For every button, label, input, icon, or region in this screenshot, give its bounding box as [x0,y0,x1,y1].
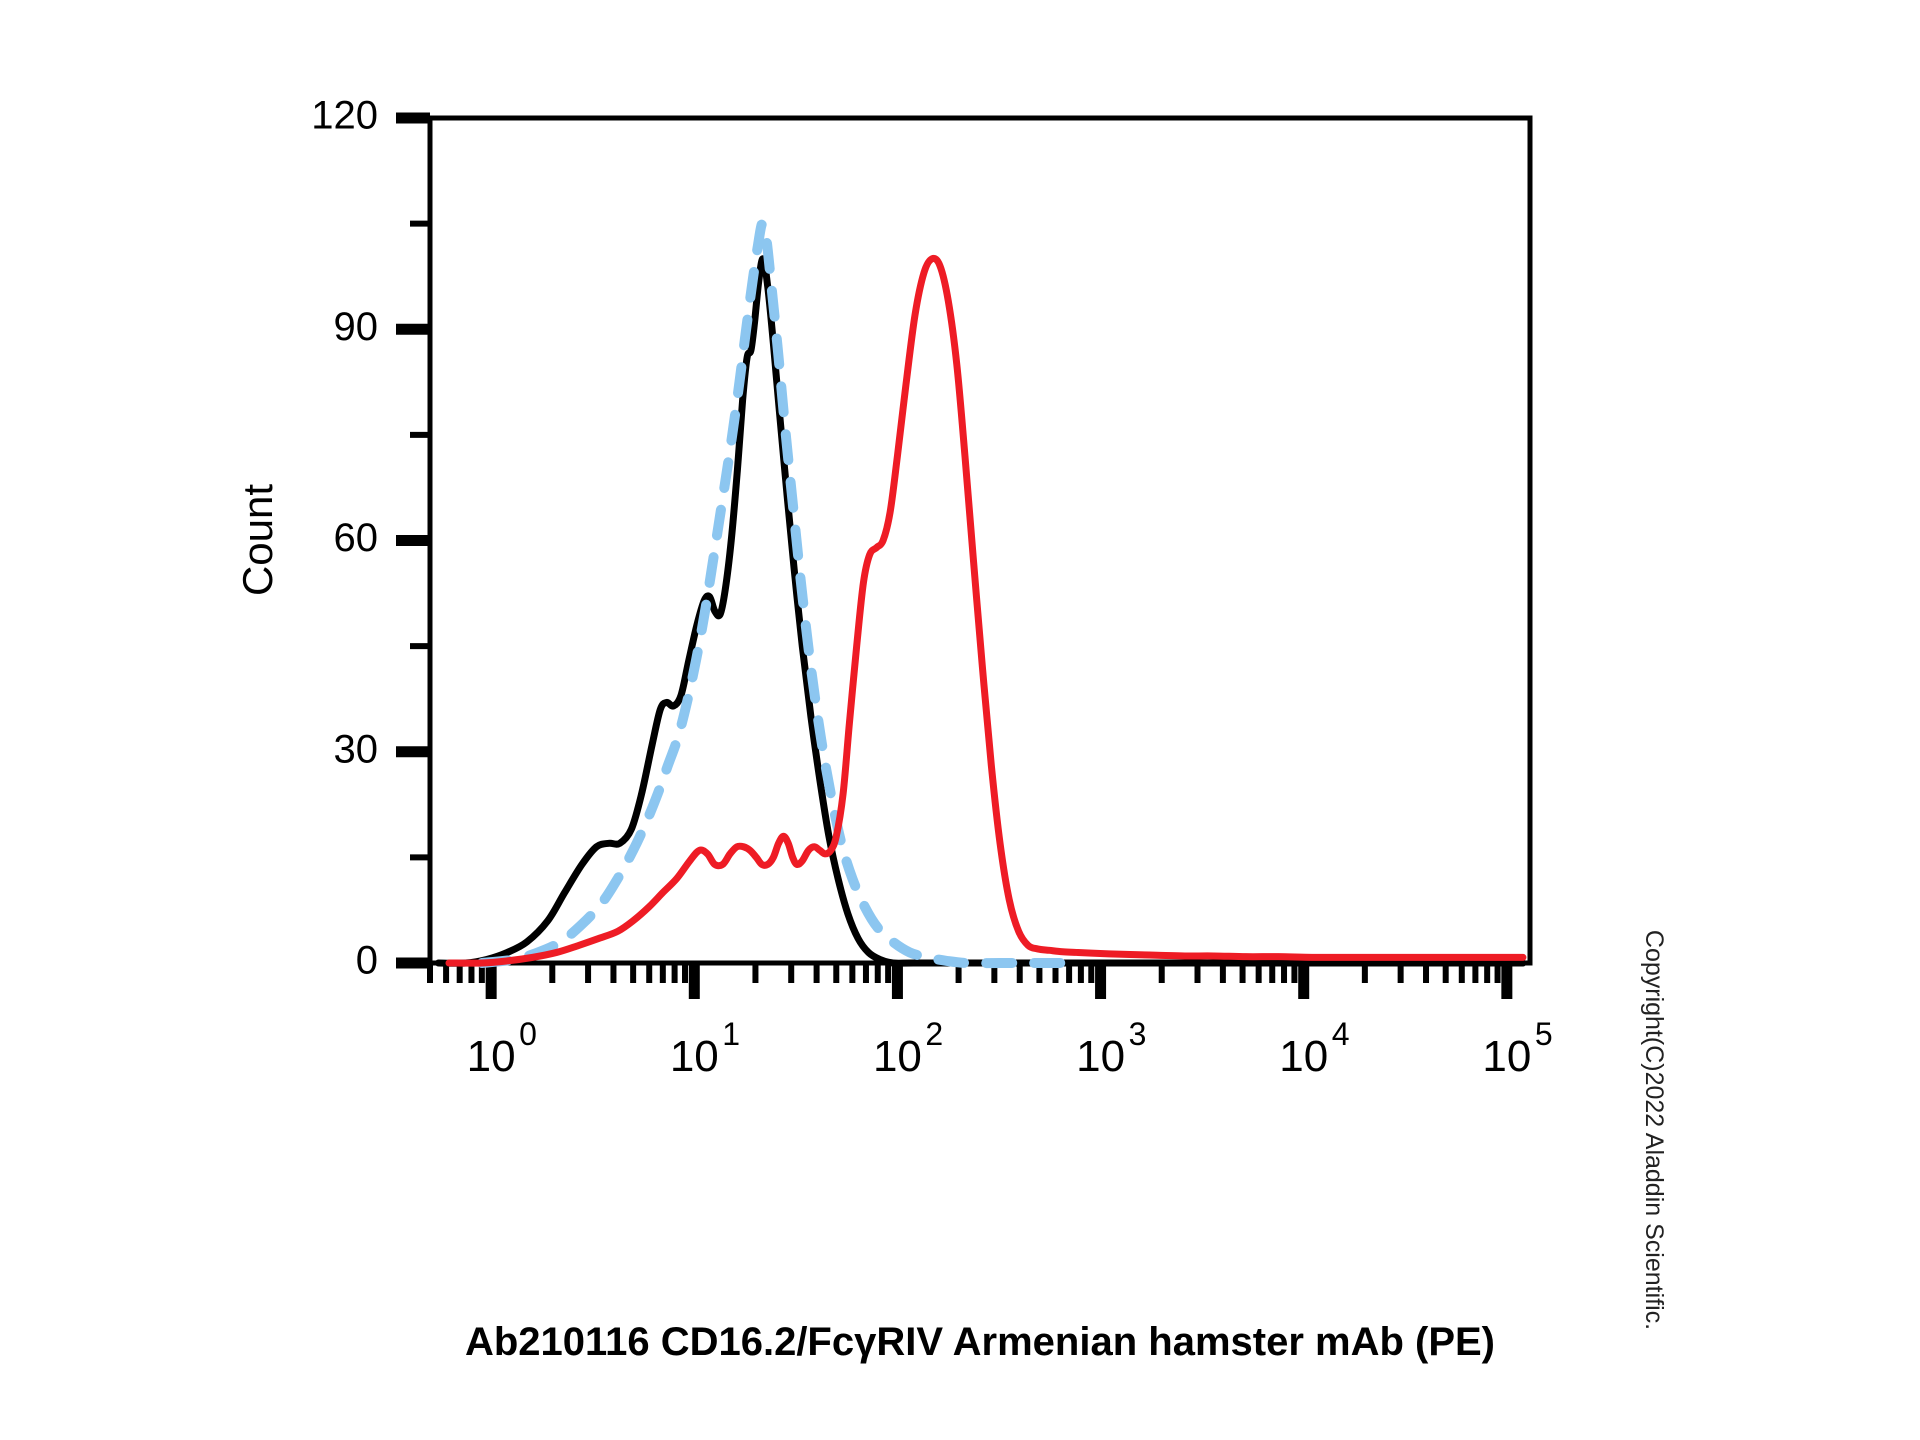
flow-cytometry-figure: 0306090120 100101102103104105 Count Ab21… [0,0,1920,1440]
x-tick-label-exponent: 0 [519,1016,537,1052]
y-axis-title: Count [234,484,281,596]
x-tick-label-mantissa: 10 [873,1032,922,1081]
x-tick-label-exponent: 3 [1129,1016,1147,1052]
histogram-plot: 0306090120 100101102103104105 Count Ab21… [0,0,1920,1440]
x-axis: 100101102103104105 [430,963,1553,1081]
y-tick-label: 60 [334,516,379,560]
x-tick-label-mantissa: 10 [1279,1032,1328,1081]
x-tick-label-exponent: 4 [1332,1016,1350,1052]
x-tick-label-exponent: 2 [925,1016,943,1052]
y-tick-label: 120 [311,94,378,138]
y-tick-label: 90 [334,305,379,349]
copyright-notice: Copyright(C)2022 Aladdin Scientific. [1640,930,1668,1330]
x-tick-label-mantissa: 10 [467,1032,516,1081]
x-tick-label-exponent: 1 [722,1016,740,1052]
x-tick-label-exponent: 5 [1535,1016,1553,1052]
x-tick-label-mantissa: 10 [670,1032,719,1081]
x-tick-label-mantissa: 10 [1076,1032,1125,1081]
x-tick-label-mantissa: 10 [1482,1032,1531,1081]
y-axis: 0306090120 [311,94,430,983]
y-tick-label: 30 [334,727,379,771]
y-tick-label: 0 [356,939,378,983]
plot-area-background [430,118,1530,963]
plot-title: Ab210116 CD16.2/FcγRIV Armenian hamster … [465,1320,1495,1364]
plot-frame [430,118,1530,963]
